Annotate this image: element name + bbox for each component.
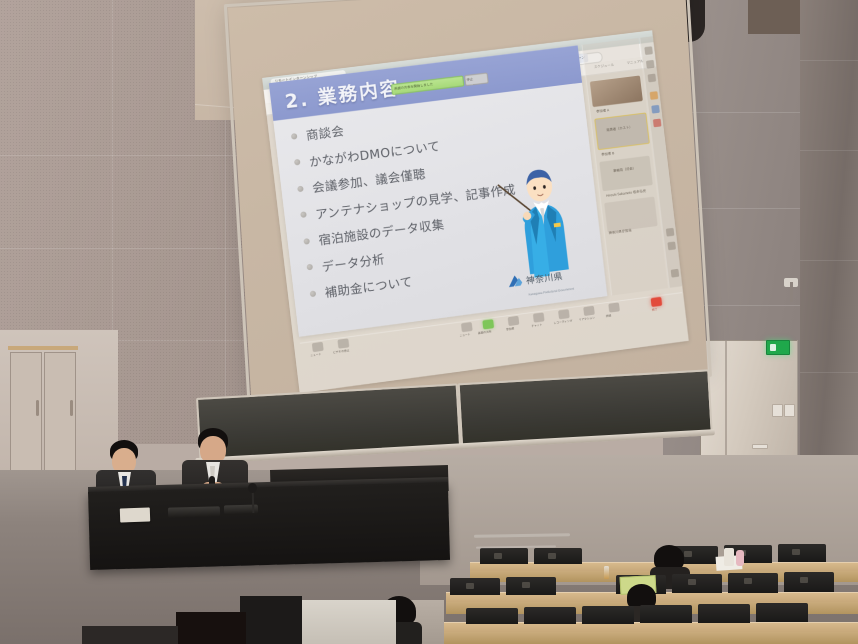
toolbar-icon-1[interactable] <box>644 46 653 55</box>
participant-name: 参加者 A <box>596 107 609 114</box>
podium <box>88 482 450 570</box>
toolbar-icon-3[interactable] <box>647 74 656 83</box>
emergency-exit-sign <box>766 340 790 355</box>
door-handle-icon <box>70 400 73 416</box>
participant-video-tile[interactable] <box>590 75 643 107</box>
seating-row-front <box>430 612 858 644</box>
front-desk-surface <box>300 600 396 644</box>
lecture-hall-photo: リモートインターンシップ https://www.pref.kanagawa.j… <box>0 0 858 644</box>
bullet-dot-icon <box>300 211 307 218</box>
more-icon[interactable] <box>608 302 620 312</box>
end-meeting-label: 終了 <box>652 307 658 312</box>
participant-name: 参加者 B <box>601 150 614 157</box>
bullet-text: データ分析 <box>320 248 385 275</box>
toolbar-icon-9[interactable] <box>670 269 679 278</box>
microphone-head <box>248 483 257 493</box>
bullet-dot-icon <box>297 185 304 192</box>
sanitizer-bottle <box>736 550 744 566</box>
kanagawa-mark-icon <box>507 273 524 289</box>
front-row-edge <box>82 626 178 644</box>
participants-icon[interactable] <box>508 316 520 326</box>
ceiling-hanger <box>790 282 793 302</box>
wall-switch-panel <box>772 404 783 417</box>
toolbar-icon-7[interactable] <box>665 228 674 237</box>
door-handle-icon <box>752 444 768 449</box>
toolbar-icon-4[interactable] <box>649 91 658 100</box>
bullet-text: 補助金について <box>324 271 414 301</box>
tissue-box <box>724 548 734 566</box>
bullet-dot-icon <box>303 238 310 245</box>
participant-tile[interactable] <box>599 156 653 192</box>
front-seat-back <box>240 596 302 644</box>
mic-muted-icon[interactable] <box>312 342 324 352</box>
wall-switch-panel <box>784 404 795 417</box>
kanagawa-logo-name: 神奈川県 <box>525 269 563 287</box>
bullet-text: 商談会 <box>305 120 345 144</box>
toolbar-icon-2[interactable] <box>645 60 654 69</box>
bullet-dot-icon <box>294 159 301 166</box>
kanagawa-logo-subtitle: Kanagawa Prefectural Government <box>528 287 574 297</box>
end-meeting-button[interactable] <box>651 297 663 307</box>
toolbar-label: 詳細 <box>606 313 612 318</box>
presenter-mascot-illustration <box>492 154 595 281</box>
toolbar-icon-6[interactable] <box>652 119 661 128</box>
microphone-icon[interactable] <box>461 322 473 332</box>
door-header-trim <box>8 346 78 350</box>
stop-share-label: 停止 <box>466 76 473 82</box>
podium-papers <box>120 507 150 522</box>
toolbar-icon-5[interactable] <box>651 105 660 114</box>
share-screen-icon[interactable] <box>482 319 494 329</box>
bullet-dot-icon <box>310 290 317 297</box>
chat-icon[interactable] <box>533 312 545 322</box>
podium-equipment <box>168 506 220 517</box>
projection-screen: リモートインターンシップ https://www.pref.kanagawa.j… <box>228 0 708 407</box>
toolbar-icon-8[interactable] <box>667 242 676 251</box>
front-seat-shadow <box>176 612 246 644</box>
right-column <box>800 0 858 470</box>
browser-window[interactable]: リモートインターンシップ https://www.pref.kanagawa.j… <box>262 30 689 393</box>
participant-tile-active[interactable] <box>594 112 650 150</box>
bullet-dot-icon <box>291 133 298 140</box>
bullet-dot-icon <box>306 264 313 271</box>
door-handle-icon <box>36 400 39 416</box>
